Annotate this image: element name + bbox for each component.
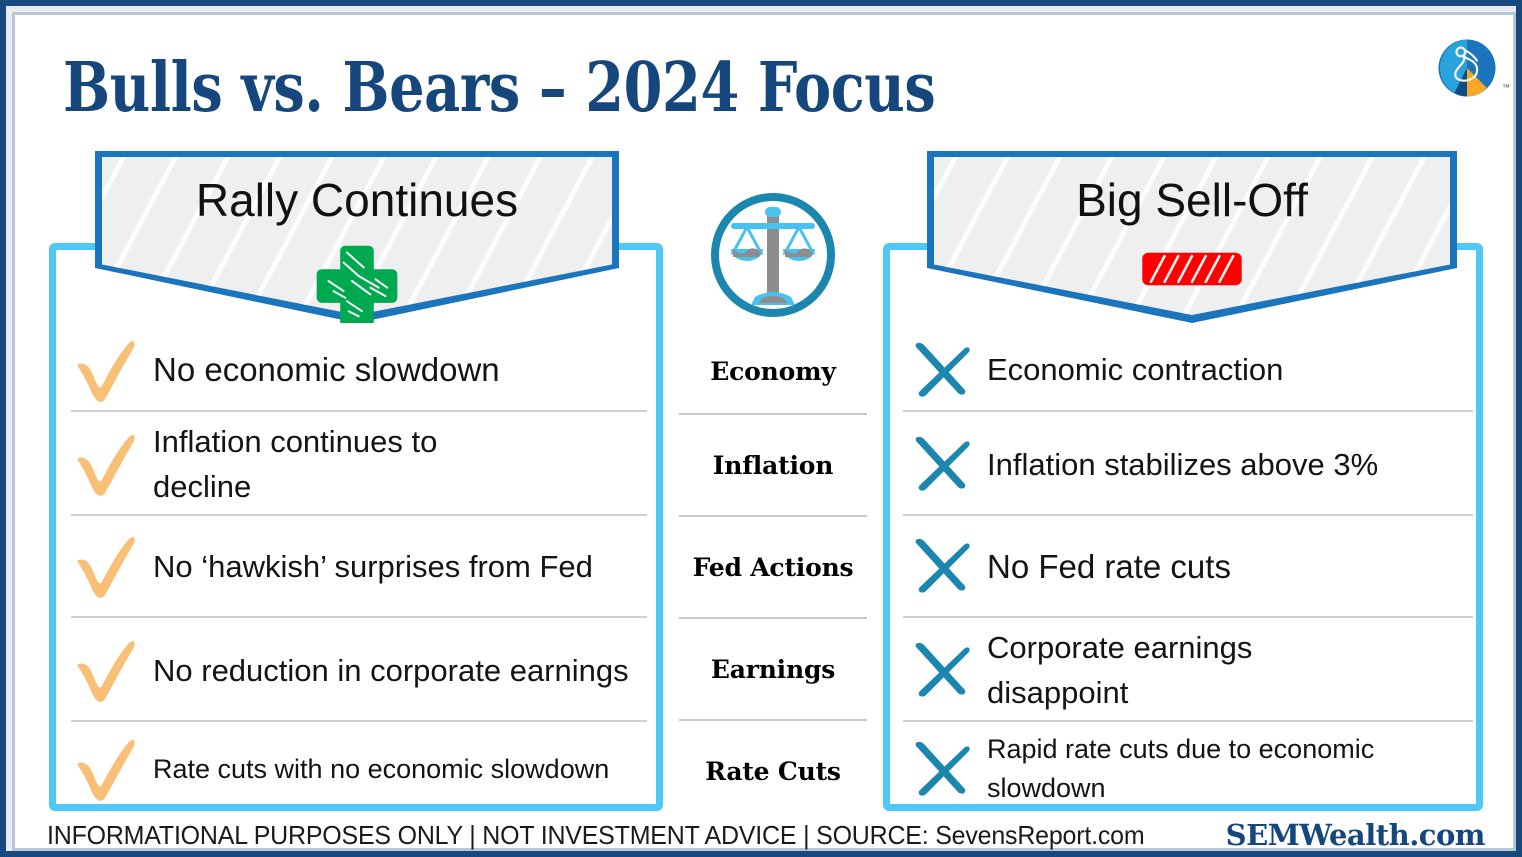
- center-separator: [679, 515, 867, 517]
- rally-continues-banner: Rally Continues: [95, 151, 619, 323]
- scales-icon: [703, 185, 843, 325]
- check-icon: [61, 337, 153, 403]
- row-separator: [903, 514, 1473, 516]
- rally-continues-title: Rally Continues: [95, 173, 619, 227]
- cross-icon: [895, 339, 987, 401]
- check-icon: [61, 431, 153, 497]
- list-item: Inflation continues to decline: [61, 418, 653, 510]
- row-separator: [903, 616, 1473, 618]
- list-item-text: No economic slowdown: [153, 350, 653, 390]
- center-category-column: Economy Inflation Fed Actions Earnings R…: [671, 185, 875, 811]
- row-separator: [903, 720, 1473, 722]
- row-separator: [903, 410, 1473, 412]
- row-separator: [71, 410, 647, 412]
- list-item: Economic contraction: [895, 335, 1481, 405]
- inner-frame: Bulls vs. Bears – 2024 Focus ™: [12, 12, 1516, 851]
- list-item-text: No reduction in corporate earnings: [153, 648, 653, 693]
- list-item: No ‘hawkish’ surprises from Fed: [61, 520, 653, 612]
- row-separator: [71, 720, 647, 722]
- list-item-text: Inflation stabilizes above 3%: [987, 442, 1481, 487]
- list-item-text: No ‘hawkish’ surprises from Fed: [153, 544, 653, 589]
- list-item: Rate cuts with no economic slowdown: [61, 727, 653, 811]
- list-item: Rapid rate cuts due to economic slowdown: [895, 727, 1481, 811]
- list-item: Corporate earnings disappoint: [895, 623, 1481, 717]
- list-item: No economic slowdown: [61, 335, 653, 405]
- minus-icon: [1140, 251, 1244, 287]
- list-item: No Fed rate cuts: [895, 520, 1481, 612]
- list-item-text: Corporate earnings disappoint: [987, 625, 1327, 715]
- footer-disclaimer: INFORMATIONAL PURPOSES ONLY | NOT INVEST…: [47, 818, 1144, 852]
- big-selloff-banner: Big Sell-Off: [927, 151, 1457, 323]
- center-separator: [679, 719, 867, 721]
- category-rate-cuts: Rate Cuts: [671, 747, 875, 795]
- list-item-text: Inflation continues to decline: [153, 419, 523, 509]
- infographic-canvas: Bulls vs. Bears – 2024 Focus ™: [15, 15, 1513, 848]
- check-icon: [61, 637, 153, 703]
- plus-icon: [315, 239, 399, 323]
- cross-icon: [895, 433, 987, 495]
- list-item-text: No Fed rate cuts: [987, 544, 1481, 589]
- cross-icon: [895, 535, 987, 597]
- center-separator: [679, 413, 867, 415]
- trademark-symbol: ™: [1502, 83, 1510, 92]
- cross-icon: [895, 738, 987, 800]
- category-economy: Economy: [671, 347, 875, 395]
- cross-icon: [895, 639, 987, 701]
- row-separator: [71, 616, 647, 618]
- row-separator: [71, 514, 647, 516]
- category-earnings: Earnings: [671, 645, 875, 693]
- category-inflation: Inflation: [671, 441, 875, 489]
- list-item: No reduction in corporate earnings: [61, 623, 653, 717]
- big-selloff-title: Big Sell-Off: [927, 173, 1457, 227]
- list-item-text: Economic contraction: [987, 350, 1481, 390]
- list-item: Inflation stabilizes above 3%: [895, 418, 1481, 510]
- center-separator: [679, 617, 867, 619]
- check-icon: [61, 736, 153, 802]
- footer-brand[interactable]: SEMWealth.com: [1226, 817, 1485, 853]
- list-item-text: Rate cuts with no economic slowdown: [153, 750, 653, 789]
- semwealth-logo: [1436, 37, 1498, 99]
- list-item-text: Rapid rate cuts due to economic slowdown: [987, 730, 1481, 808]
- category-fed-actions: Fed Actions: [671, 543, 875, 591]
- outer-frame: Bulls vs. Bears – 2024 Focus ™: [0, 0, 1522, 857]
- page-title: Bulls vs. Bears – 2024 Focus: [63, 49, 935, 127]
- check-icon: [61, 533, 153, 599]
